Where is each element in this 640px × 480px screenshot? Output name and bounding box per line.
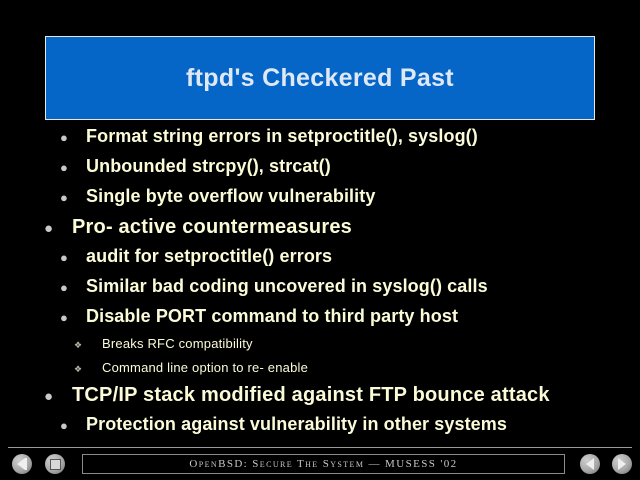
list-item-label: Protection against vulnerability in othe… [86, 414, 507, 435]
list-item: ●Protection against vulnerability in oth… [0, 414, 640, 444]
stop-square-icon [50, 459, 61, 470]
footer-title-box: OpenBSD: Secure The System — MUSESS '02 [82, 454, 565, 474]
list-item: ●audit for setproctitle() errors [0, 246, 640, 276]
list-item: ●Pro- active countermeasures [0, 216, 640, 246]
bullet-dot-icon: ● [60, 250, 86, 265]
footer-title: OpenBSD: Secure The System — MUSESS '02 [189, 458, 457, 470]
footer-divider [8, 447, 632, 448]
bullet-dot-icon: ● [60, 130, 86, 145]
list-item-label: Unbounded strcpy(), strcat() [86, 156, 331, 177]
triangle-right-icon [618, 458, 626, 470]
bullet-dot-icon: ● [60, 280, 86, 295]
triangle-left-icon [586, 458, 594, 470]
slide-bullet-list: ●Format string errors in setproctitle(),… [0, 126, 640, 444]
list-item: ●TCP/IP stack modified against FTP bounc… [0, 384, 640, 414]
list-item: ●Format string errors in setproctitle(),… [0, 126, 640, 156]
bullet-dot-icon: ● [44, 388, 72, 405]
list-item-label: Single byte overflow vulnerability [86, 186, 375, 207]
list-item-label: Similar bad coding uncovered in syslog()… [86, 276, 488, 297]
list-item-label: Disable PORT command to third party host [86, 306, 458, 327]
list-item: ●Unbounded strcpy(), strcat() [0, 156, 640, 186]
list-item-label: TCP/IP stack modified against FTP bounce… [72, 384, 550, 407]
bullet-dot-icon: ● [44, 220, 72, 237]
list-item: ●Similar bad coding uncovered in syslog(… [0, 276, 640, 306]
page-title: ftpd's Checkered Past [186, 66, 454, 91]
bullet-diamond-icon: ❖ [74, 340, 102, 351]
list-item-label: Breaks RFC compatibility [102, 336, 253, 351]
next-slide-button[interactable] [612, 454, 632, 474]
list-item-label: audit for setproctitle() errors [86, 246, 332, 267]
bullet-dot-icon: ● [60, 190, 86, 205]
first-slide-button[interactable] [12, 454, 32, 474]
list-item-label: Pro- active countermeasures [72, 216, 352, 239]
slide-title-banner: ftpd's Checkered Past [45, 36, 595, 120]
list-item-label: Command line option to re- enable [102, 360, 308, 375]
bullet-diamond-icon: ❖ [74, 364, 102, 375]
previous-slide-button[interactable] [580, 454, 600, 474]
bullet-dot-icon: ● [60, 160, 86, 175]
list-item-label: Format string errors in setproctitle(), … [86, 126, 478, 147]
list-item: ❖Breaks RFC compatibility [0, 336, 640, 360]
stop-button[interactable] [45, 454, 65, 474]
bullet-dot-icon: ● [60, 310, 86, 325]
list-item: ❖Command line option to re- enable [0, 360, 640, 384]
list-item: ●Disable PORT command to third party hos… [0, 306, 640, 336]
bullet-dot-icon: ● [60, 418, 86, 433]
list-item: ●Single byte overflow vulnerability [0, 186, 640, 216]
arrow-left-bar-icon [17, 458, 27, 470]
